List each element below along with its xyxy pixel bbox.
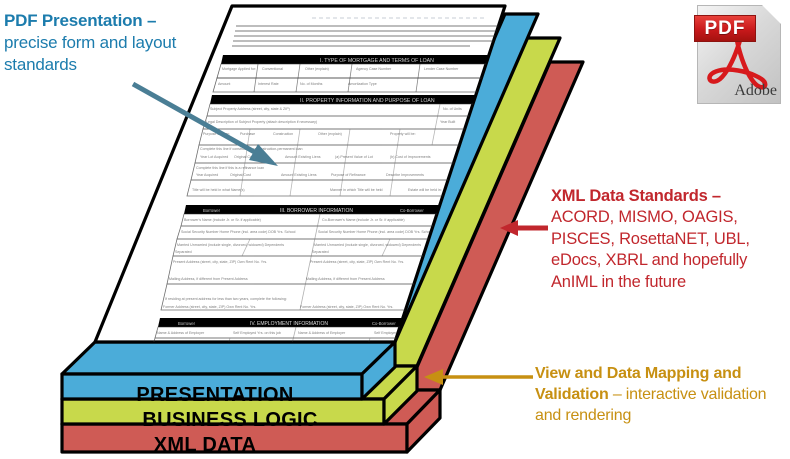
svg-text:Mailing Address, if different: Mailing Address, if different from Prese… bbox=[169, 277, 248, 281]
svg-text:Amount Existing Liens: Amount Existing Liens bbox=[285, 155, 321, 159]
callout-pdf-presentation: PDF Presentation – precise form and layo… bbox=[4, 10, 214, 76]
layer-label-xml-data: XML DATA bbox=[0, 434, 410, 457]
svg-text:Describe Improvements: Describe Improvements bbox=[386, 173, 424, 177]
svg-text:Complete this line if this is: Complete this line if this is a refinanc… bbox=[196, 166, 264, 170]
gold-arrow-to-business-logic-layer bbox=[424, 369, 533, 385]
svg-text:Co-Borrower: Co-Borrower bbox=[400, 208, 424, 213]
svg-text:Amount Existing Liens: Amount Existing Liens bbox=[281, 173, 317, 177]
svg-text:Property will be:: Property will be: bbox=[390, 132, 416, 136]
svg-text:Amount: Amount bbox=[218, 82, 230, 86]
svg-text:Amortization Type: Amortization Type bbox=[348, 82, 377, 86]
svg-text:(b) Cost of Improvements: (b) Cost of Improvements bbox=[390, 155, 431, 159]
svg-text:Name & Address of Employer: Name & Address of Employer bbox=[298, 331, 346, 335]
diagram-canvas: I. TYPE OF MORTGAGE AND TERMS OF LOAN Mo… bbox=[0, 0, 790, 459]
svg-text:Agency Case Number: Agency Case Number bbox=[356, 67, 392, 71]
svg-text:IV. EMPLOYMENT INFORMATION: IV. EMPLOYMENT INFORMATION bbox=[250, 321, 328, 327]
svg-text:No. of Months: No. of Months bbox=[300, 82, 323, 86]
svg-text:II. PROPERTY INFORMATION AND P: II. PROPERTY INFORMATION AND PURPOSE OF … bbox=[300, 98, 435, 104]
svg-text:Self Employed Yrs. on this j: Self Employed Yrs. on this job bbox=[233, 331, 281, 335]
svg-text:Conventional: Conventional bbox=[262, 67, 283, 71]
svg-text:Original Cost: Original Cost bbox=[230, 173, 251, 177]
svg-text:Interest Rate: Interest Rate bbox=[258, 82, 279, 86]
svg-text:Year Acquired: Year Acquired bbox=[196, 173, 218, 177]
svg-text:Purchase: Purchase bbox=[240, 132, 255, 136]
svg-text:Co-Borrower: Co-Borrower bbox=[372, 321, 396, 326]
svg-text:Married Unmarried (include s: Married Unmarried (include single, divor… bbox=[314, 243, 421, 247]
svg-text:Lender Case Number: Lender Case Number bbox=[424, 67, 459, 71]
callout-pdf-heading: PDF Presentation – bbox=[4, 11, 156, 30]
svg-text:Social Security Number Home P: Social Security Number Home Phone (incl.… bbox=[181, 230, 296, 234]
svg-text:Name & Address of Employer: Name & Address of Employer bbox=[157, 331, 205, 335]
svg-text:Present Address (street, city,: Present Address (street, city, state, ZI… bbox=[310, 260, 404, 264]
pdf-badge: PDF bbox=[694, 15, 756, 42]
svg-text:Present Address (street, city,: Present Address (street, city, state, ZI… bbox=[173, 260, 267, 264]
svg-text:(a) Present Value of Lot: (a) Present Value of Lot bbox=[335, 155, 373, 159]
svg-text:No. of Units: No. of Units bbox=[443, 107, 462, 111]
svg-text:If residing at present address: If residing at present address for less … bbox=[165, 297, 287, 301]
svg-text:Purpose of Refinance: Purpose of Refinance bbox=[331, 173, 366, 177]
svg-text:Manner in which Title will be: Manner in which Title will be held bbox=[330, 188, 383, 192]
svg-text:Borrower: Borrower bbox=[203, 208, 221, 213]
layer-label-business-logic: BUSINESS LOGIC bbox=[0, 409, 460, 432]
svg-text:Borrower: Borrower bbox=[178, 321, 196, 326]
callout-pdf-body: precise form and layout standards bbox=[4, 33, 176, 74]
svg-text:Year Lot Acquired: Year Lot Acquired bbox=[200, 155, 228, 159]
callout-xml-data-standards: XML Data Standards – ACORD, MISMO, OAGIS… bbox=[551, 186, 787, 293]
adobe-brand-label: Adobe bbox=[697, 82, 777, 100]
svg-text:Separated: Separated bbox=[312, 250, 329, 254]
svg-text:I. TYPE OF MORTGAGE AND TERMS: I. TYPE OF MORTGAGE AND TERMS OF LOAN bbox=[320, 58, 434, 64]
layer-label-presentation: PRESENTATION bbox=[0, 384, 430, 407]
svg-text:III. BORROWER INFORMATION: III. BORROWER INFORMATION bbox=[280, 208, 353, 214]
svg-text:Mortgage Applied for:: Mortgage Applied for: bbox=[222, 67, 256, 71]
svg-text:Social Security Number Home P: Social Security Number Home Phone (incl.… bbox=[318, 230, 433, 234]
svg-text:Year Built: Year Built bbox=[440, 120, 455, 124]
svg-text:Former Address (street, city,: Former Address (street, city, state, ZIP… bbox=[163, 305, 256, 309]
svg-text:Co-Borrower's Name (include Jr: Co-Borrower's Name (include Jr. or Sr. i… bbox=[322, 218, 405, 222]
callout-view-data-mapping: View and Data Mapping and Validation – i… bbox=[535, 364, 787, 426]
svg-text:Former Address (street, city,: Former Address (street, city, state, ZIP… bbox=[300, 305, 393, 309]
callout-xml-body: ACORD, MISMO, OAGIS, PISCES, RosettaNET,… bbox=[551, 208, 750, 290]
svg-text:Separated: Separated bbox=[175, 250, 192, 254]
svg-text:Married Unmarried (include s: Married Unmarried (include single, divor… bbox=[177, 243, 284, 247]
svg-text:Estate will be held in:: Estate will be held in: bbox=[408, 188, 442, 192]
svg-text:Other (explain): Other (explain) bbox=[305, 67, 329, 71]
callout-xml-heading: XML Data Standards – bbox=[551, 187, 721, 205]
svg-text:Construction: Construction bbox=[273, 132, 293, 136]
svg-text:Other (explain): Other (explain) bbox=[318, 132, 342, 136]
svg-text:Legal Description of Subject P: Legal Description of Subject Property (a… bbox=[206, 120, 317, 124]
svg-text:Borrower's Name (include Jr. o: Borrower's Name (include Jr. or Sr. if a… bbox=[184, 218, 261, 222]
svg-text:Subject Property Address (stre: Subject Property Address (street, city, … bbox=[210, 107, 290, 111]
svg-text:Mailing Address, if different: Mailing Address, if different from Prese… bbox=[306, 277, 385, 281]
adobe-pdf-icon[interactable]: PDF Adobe bbox=[697, 5, 781, 104]
svg-text:Title will be held in what Nam: Title will be held in what Name(s) bbox=[192, 188, 245, 192]
